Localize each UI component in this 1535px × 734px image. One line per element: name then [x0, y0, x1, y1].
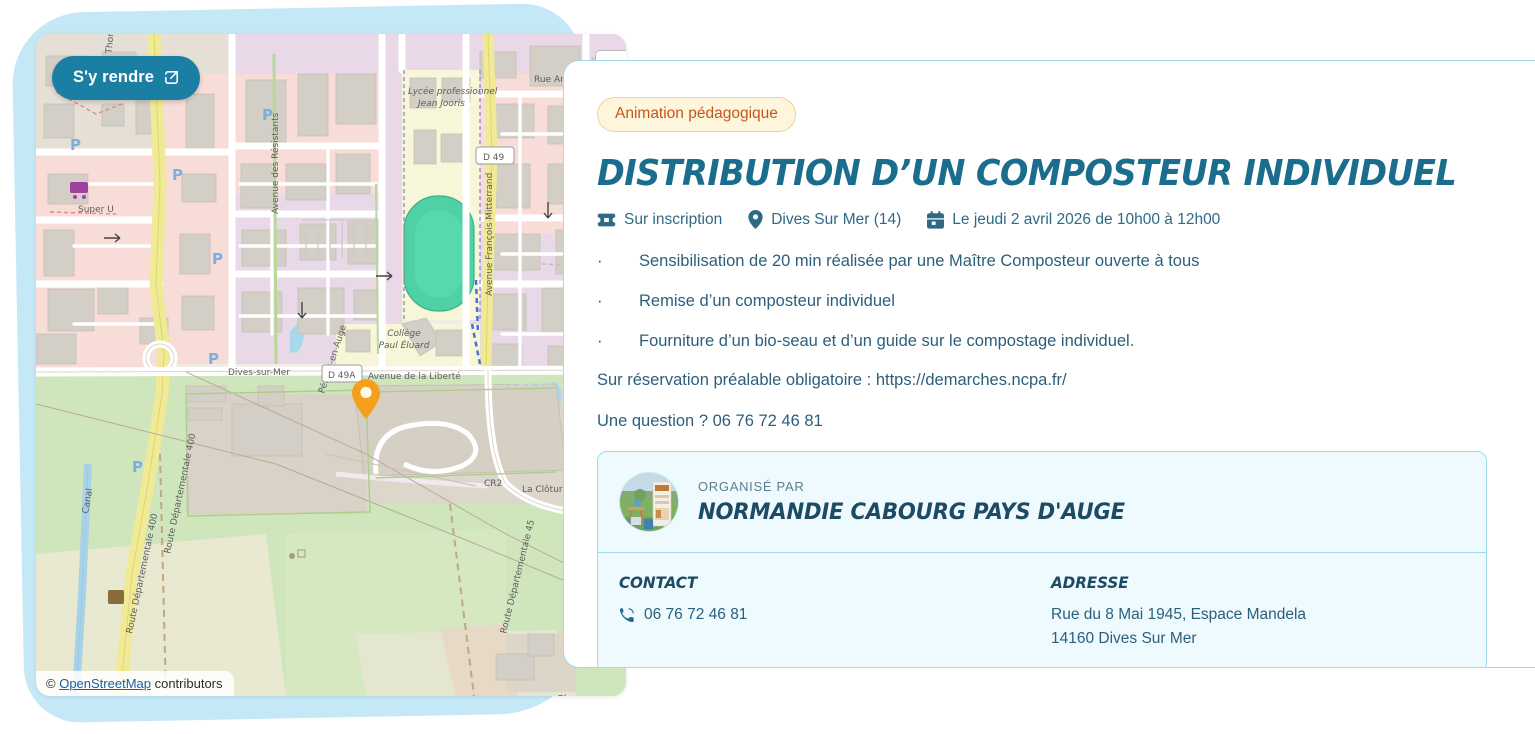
contact-heading: CONTACT [619, 573, 1029, 592]
external-link-icon [163, 69, 180, 86]
go-there-button[interactable]: S'y rendre [52, 56, 200, 100]
address-column: ADRESSE Rue du 8 Mai 1945, Espace Mandel… [1051, 573, 1306, 651]
bullet-marker: · [597, 291, 605, 312]
openstreetmap-link[interactable]: OpenStreetMap [59, 676, 151, 691]
map-canvas[interactable]: .rd { stroke:#ffffff; stroke-linecap:rou… [36, 34, 626, 696]
organiser-panel: ORGANISÉ PAR NORMANDIE CABOURG PAYS D'AU… [597, 451, 1487, 668]
location-pin-icon [748, 210, 763, 229]
attribution-suffix: contributors [151, 676, 223, 691]
organiser-details: CONTACT 06 76 72 46 81 ADRESSE Rue du [598, 553, 1486, 668]
organiser-header: ORGANISÉ PAR NORMANDIE CABOURG PAYS D'AU… [598, 452, 1486, 553]
meta-location-label: Dives Sur Mer (14) [771, 211, 901, 229]
event-description: · Sensibilisation de 20 min réalisée par… [597, 251, 1495, 432]
bullet-marker: · [597, 251, 605, 272]
svg-text:P: P [172, 166, 183, 184]
svg-text:Avenue des Résistants: Avenue des Résistants [270, 112, 281, 214]
page-title: DISTRIBUTION D’UN COMPOSTEUR INDIVIDUEL [597, 155, 1432, 193]
list-item-text: Remise d’un composteur individuel [639, 291, 895, 312]
contact-column: CONTACT 06 76 72 46 81 [619, 573, 1051, 651]
svg-text:Avenue François Mitterrand: Avenue François Mitterrand [485, 173, 495, 296]
svg-text:D 49: D 49 [483, 153, 505, 163]
organiser-name: NORMANDIE CABOURG PAYS D'AUGE [698, 499, 1125, 525]
ticket-icon [597, 212, 616, 228]
map-panel[interactable]: .rd { stroke:#ffffff; stroke-linecap:rou… [36, 34, 626, 696]
svg-text:P: P [212, 250, 223, 268]
go-there-label: S'y rendre [73, 68, 154, 87]
question-paragraph: Une question ? 06 76 72 46 81 [597, 411, 1495, 432]
svg-text:P: P [262, 106, 273, 124]
address-line-2: 14160 Dives Sur Mer [1051, 627, 1306, 651]
svg-text:Champs: Champs [556, 694, 597, 696]
meta-registration-label: Sur inscription [624, 211, 722, 229]
category-badge: Animation pédagogique [597, 97, 796, 132]
calendar-icon [927, 211, 944, 229]
list-item: · Remise d’un composteur individuel [597, 291, 1495, 312]
map-pin-icon[interactable] [352, 379, 380, 419]
organiser-kicker: ORGANISÉ PAR [698, 479, 1152, 494]
organiser-text: ORGANISÉ PAR NORMANDIE CABOURG PAYS D'AU… [698, 479, 1152, 525]
address-heading: ADRESSE [1051, 573, 1293, 592]
event-detail-page: .rd { stroke:#ffffff; stroke-linecap:rou… [0, 0, 1535, 734]
meta-date-label: Le jeudi 2 avril 2026 de 10h00 à 12h00 [952, 211, 1220, 229]
event-detail-card: Animation pédagogique DISTRIBUTION D’UN … [563, 60, 1535, 668]
list-item: · Fourniture d’un bio-seau et d’un guide… [597, 331, 1495, 352]
svg-text:Lycée professionnel: Lycée professionnel [408, 86, 498, 97]
contact-phone[interactable]: 06 76 72 46 81 [619, 603, 1051, 627]
svg-text:P: P [70, 136, 81, 154]
attribution-prefix: © [46, 676, 59, 691]
reservation-paragraph: Sur réservation préalable obligatoire : … [597, 370, 1495, 391]
avatar [619, 472, 679, 532]
meta-registration: Sur inscription [597, 211, 722, 229]
svg-text:Paul Éluard: Paul Éluard [379, 339, 430, 351]
bullet-marker: · [597, 331, 605, 352]
phone-icon [619, 607, 635, 623]
svg-text:Jean Jooris: Jean Jooris [416, 99, 465, 109]
svg-text:La Clôture: La Clôture [522, 484, 568, 495]
svg-text:Super U: Super U [78, 205, 114, 215]
event-meta-row: Sur inscription Dives Sur Mer (14) [597, 210, 1495, 229]
list-item: · Sensibilisation de 20 min réalisée par… [597, 251, 1495, 272]
map-attribution: © OpenStreetMap contributors [36, 671, 234, 696]
svg-text:Dives-sur-Mer: Dives-sur-Mer [228, 368, 290, 378]
list-item-text: Fourniture d’un bio-seau et d’un guide s… [639, 331, 1134, 352]
address-line-1: Rue du 8 Mai 1945, Espace Mandela [1051, 603, 1306, 627]
svg-text:Avenue de la Liberté: Avenue de la Liberté [368, 371, 461, 382]
svg-text:CR2: CR2 [484, 479, 502, 489]
meta-date: Le jeudi 2 avril 2026 de 10h00 à 12h00 [927, 211, 1220, 229]
svg-text:Collège: Collège [387, 328, 421, 339]
list-item-text: Sensibilisation de 20 min réalisée par u… [639, 251, 1199, 272]
meta-location: Dives Sur Mer (14) [748, 210, 901, 229]
contact-phone-number: 06 76 72 46 81 [644, 603, 747, 627]
svg-text:P: P [132, 458, 143, 476]
svg-text:P: P [208, 350, 219, 368]
